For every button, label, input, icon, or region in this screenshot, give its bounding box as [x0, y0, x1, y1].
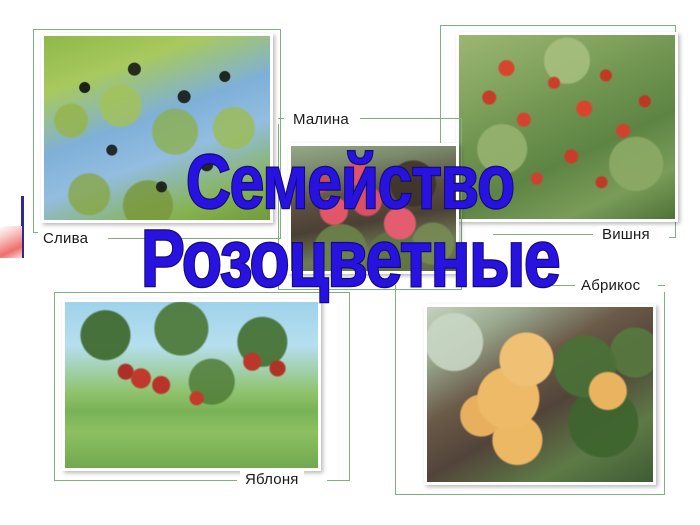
raspberry-photo	[288, 143, 459, 274]
panel-vishnya-label: Вишня	[597, 226, 655, 243]
panel-vishnya-label-connector	[493, 234, 593, 235]
panel-sliva-label: Слива	[38, 230, 93, 247]
panel-yablonya-left-edge	[54, 292, 55, 480]
panel-sliva-left-edge	[33, 29, 34, 232]
panel-abrikos-label: Абрикос	[576, 277, 645, 294]
panel-malina-left-edge	[278, 124, 279, 290]
panel-malina-label-connector	[360, 118, 462, 119]
panel-malina-top-left-stub	[278, 118, 284, 119]
apple-tree-photo	[62, 299, 321, 471]
panel-abrikos-right-edge	[664, 292, 665, 495]
panel-malina-label: Малина	[288, 111, 354, 128]
panel-abrikos-top-right-stub	[658, 285, 665, 286]
panel-yablonya-bottom-right-segment	[327, 480, 350, 481]
accent-block	[0, 226, 22, 258]
panel-yablonya-bottom-left-segment	[54, 480, 237, 481]
apricot-photo	[424, 304, 656, 485]
panel-yablonya-label: Яблоня	[240, 471, 304, 488]
plum-tree-photo	[41, 33, 273, 223]
cherry-tree-photo	[456, 32, 678, 222]
panel-vishnya-bottom-right-stub	[669, 237, 676, 238]
panel-yablonya-bottom-right-stub	[349, 466, 350, 481]
panel-abrikos-label-connector	[537, 285, 575, 286]
slide-canvas: Слива Вишня Малина Яблоня Абрикос Семейс…	[0, 0, 700, 525]
panel-sliva-label-connector	[108, 238, 281, 239]
